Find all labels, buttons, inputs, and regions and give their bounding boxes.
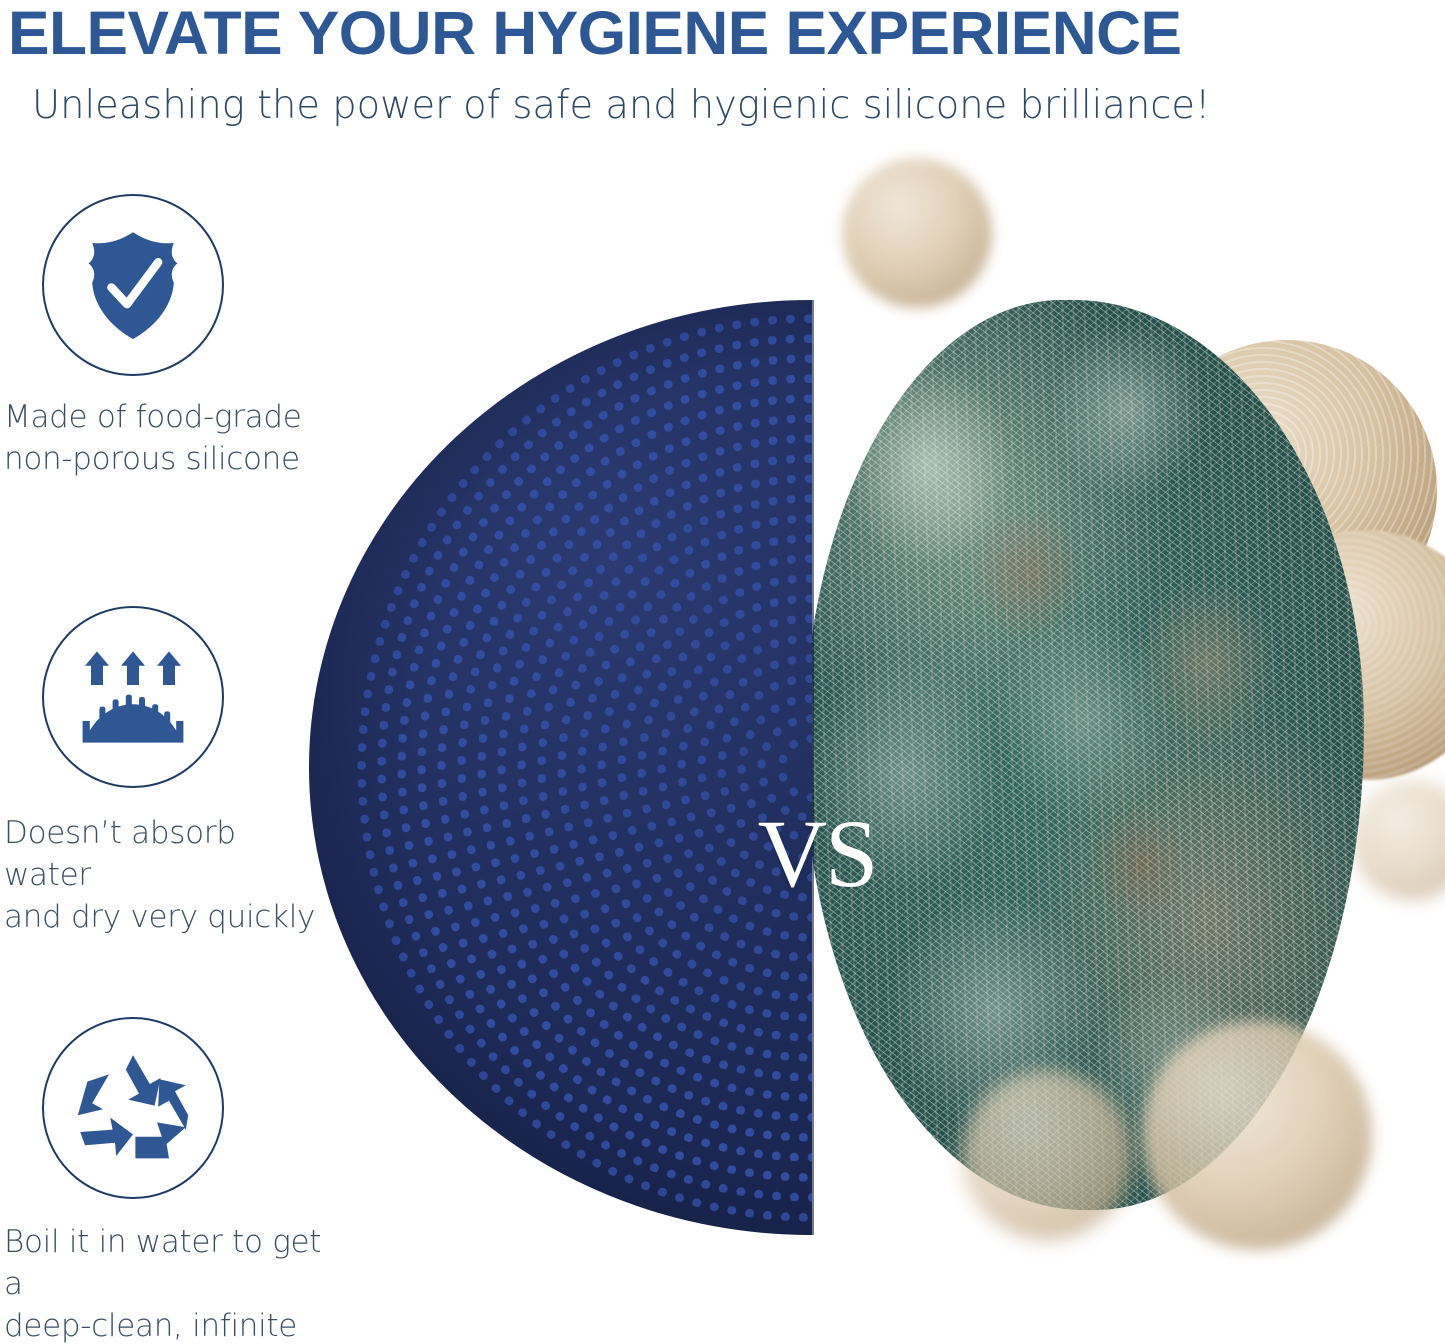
feature-icon-wrap — [42, 194, 224, 376]
virus-particle — [962, 1070, 1132, 1240]
feature-icon-wrap — [42, 1017, 224, 1199]
feature-icon-wrap — [42, 606, 224, 788]
scrubber-shading — [309, 300, 812, 1235]
feature-label: Made of food-grade non-porous silicone — [4, 396, 330, 480]
versus-label: VS — [732, 806, 902, 902]
feature-label: Doesn’t absorb water and dry very quickl… — [4, 812, 330, 938]
page-subheadline: Unleashing the power of safe and hygieni… — [32, 80, 1411, 132]
feature-item-quick-dry: Doesn’t absorb water and dry very quickl… — [0, 600, 330, 900]
shield-check-icon — [73, 225, 193, 345]
feature-label: Boil it in water to get a deep-clean, in… — [4, 1221, 330, 1344]
page-headline: ELEVATE YOUR HYGIENE EXPERIENCE — [8, 2, 1445, 64]
silicone-scrubber-side — [300, 140, 812, 1344]
feature-item-food-grade: Made of food-grade non-porous silicone — [0, 190, 330, 490]
split-divider — [812, 300, 814, 1235]
virus-particle — [1142, 1020, 1372, 1250]
marketing-infographic: ELEVATE YOUR HYGIENE EXPERIENCE Unleashi… — [0, 0, 1445, 1344]
dirty-loofah-side — [812, 140, 1445, 1344]
quick-dry-bristles-icon — [73, 637, 193, 757]
silicone-scrubber — [309, 300, 812, 1235]
feature-item-reusable: Boil it in water to get a deep-clean, in… — [0, 1013, 330, 1333]
virus-particle — [842, 158, 992, 308]
comparison-stage: VS — [300, 140, 1445, 1344]
recycle-icon — [73, 1048, 193, 1168]
